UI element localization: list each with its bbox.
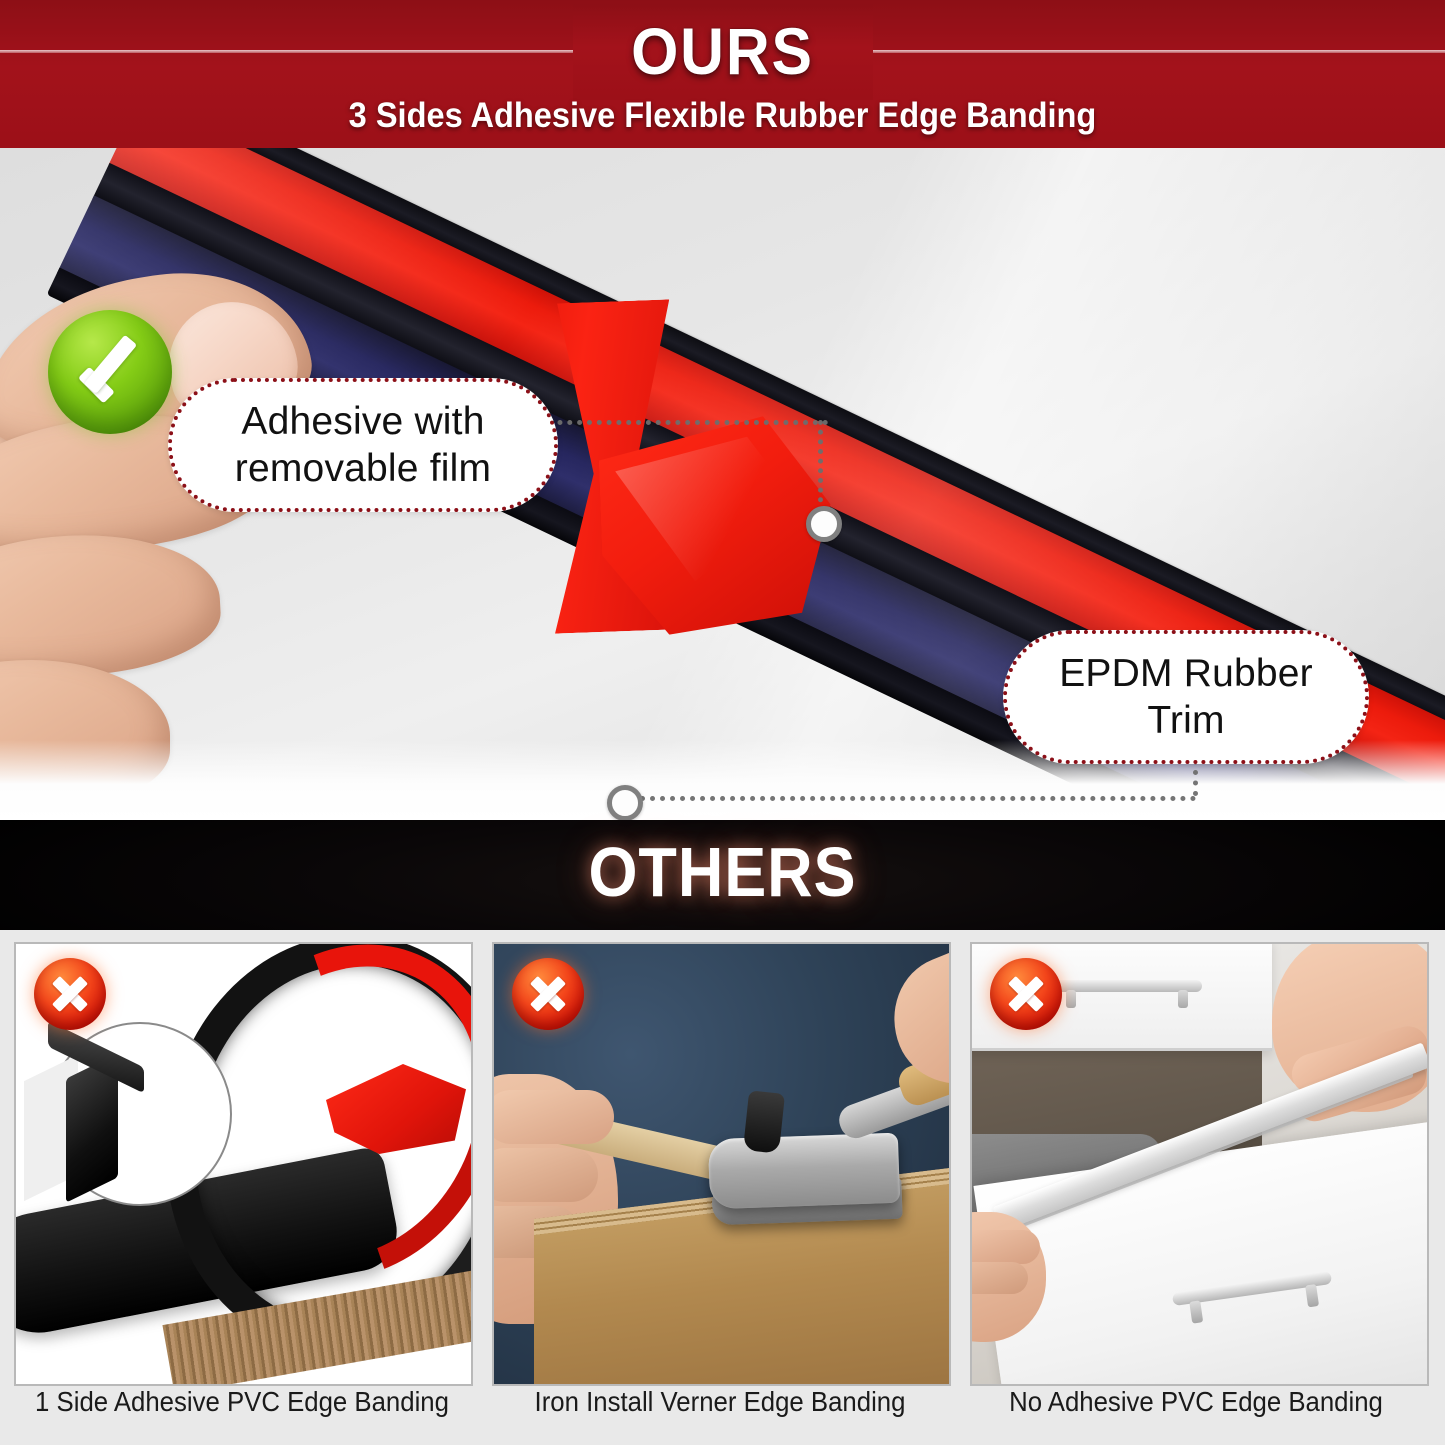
product-comparison-infographic: OURS 3 Sides Adhesive Flexible Rubber Ed…: [0, 0, 1445, 1445]
callout-adhesive-with-removable-film: Adhesive with removable film: [168, 378, 558, 512]
others-panel-1: [14, 942, 473, 1386]
left-hand-finger-2: [492, 1148, 598, 1202]
others-panel-row: 1 Side Adhesive PVC Edge Banding Iron In…: [0, 930, 1445, 1445]
others-panel-1-caption: 1 Side Adhesive PVC Edge Banding: [30, 1385, 453, 1419]
left-hand-finger-1: [492, 1090, 614, 1144]
others-banner: OTHERS: [0, 820, 1445, 930]
others-panel-2: [492, 942, 951, 1386]
x-circle-icon: [990, 958, 1062, 1030]
left-hand-finger-2: [970, 1262, 1028, 1294]
leader-line-adhesive-vertical: [818, 420, 823, 512]
x-circle-icon: [34, 958, 106, 1030]
u-channel-profile: [48, 1044, 178, 1204]
upper-drawer-handle: [1052, 980, 1202, 992]
leader-line-epdm-horizontal: [630, 796, 1196, 801]
iron-knob: [743, 1090, 785, 1153]
callout-epdm-rubber-trim: EPDM Rubber Trim: [1003, 630, 1369, 764]
ours-hero-image: Adhesive with removable film EPDM Rubber…: [0, 148, 1445, 820]
others-panel-3-caption: No Adhesive PVC Edge Banding: [984, 1385, 1407, 1419]
ours-banner: OURS 3 Sides Adhesive Flexible Rubber Ed…: [0, 0, 1445, 148]
others-panel-3: [970, 942, 1429, 1386]
check-mark-glyph: [74, 338, 146, 382]
left-hand-finger-1: [970, 1230, 1040, 1264]
ours-title: OURS: [58, 0, 1387, 104]
others-title: OTHERS: [72, 820, 1373, 924]
check-circle-icon: [48, 310, 172, 434]
leader-line-adhesive-horizontal: [528, 420, 828, 425]
callout-anchor-dot-epdm: [607, 785, 643, 820]
callout-anchor-dot-adhesive: [806, 506, 842, 542]
x-circle-icon: [512, 958, 584, 1030]
iron-body: [708, 1133, 900, 1210]
ours-subtitle: 3 Sides Adhesive Flexible Rubber Edge Ba…: [51, 92, 1395, 140]
others-panel-2-caption: Iron Install Verner Edge Banding: [508, 1385, 931, 1419]
